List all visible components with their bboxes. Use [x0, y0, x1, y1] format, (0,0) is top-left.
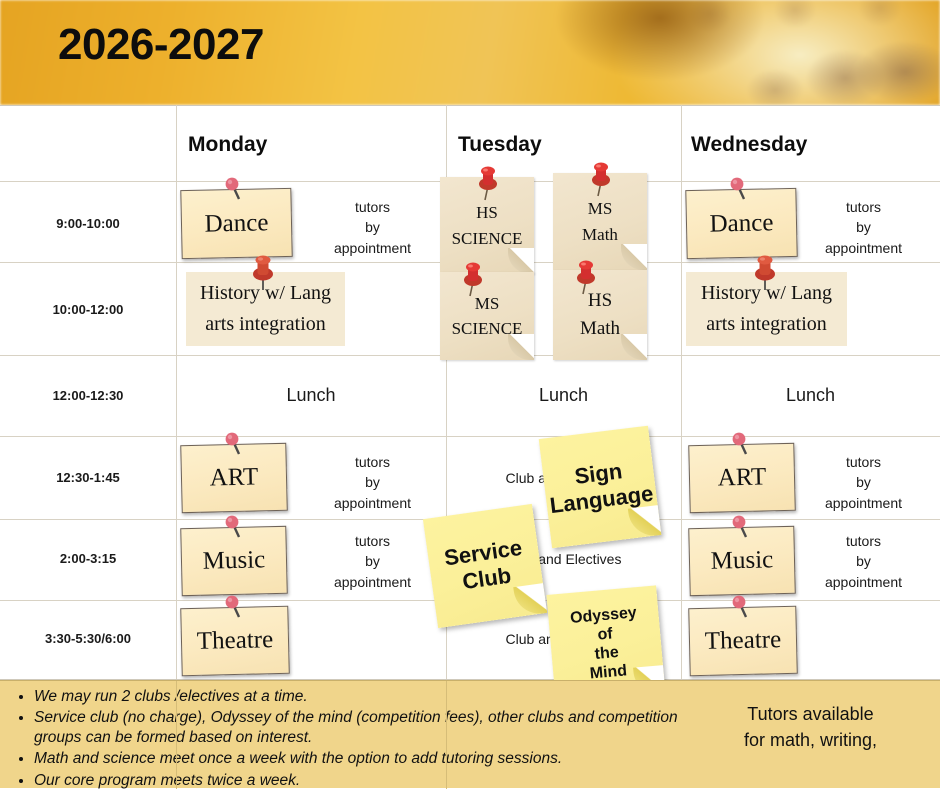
pushpin-pink-icon: [222, 595, 244, 619]
pushpin-pink-icon: [727, 177, 749, 201]
page-header: 2026-2027: [0, 0, 940, 105]
pushpin-pink-icon: [729, 432, 751, 456]
note-sign-language[interactable]: SignLanguage: [539, 426, 662, 549]
tutors-line-1: tutors: [806, 531, 921, 551]
note-label: Dance: [204, 209, 268, 238]
footer-divider-2: [446, 681, 447, 789]
tutors-line-1: tutors: [806, 197, 921, 217]
pushpin-pink-icon: [729, 515, 751, 539]
tutors-by-appointment-mon-1: tutors by appointment: [315, 452, 430, 513]
tutors-line-1: tutors: [806, 452, 921, 472]
page-curl: [621, 334, 647, 360]
time-label-3: 12:30-1:45: [0, 470, 176, 485]
pushpin-red-icon: [750, 252, 780, 292]
pushpin-red-icon: [571, 256, 601, 296]
note-service-club[interactable]: ServiceClub: [423, 504, 547, 628]
day-header-monday: Monday: [188, 133, 267, 157]
tutors-line-2: by: [315, 217, 430, 237]
pushpin-pink-icon: [729, 595, 751, 619]
tutors-line-3: appointment: [806, 572, 921, 592]
page-curl: [508, 334, 534, 360]
footer-notes-panel: We may run 2 clubs /electives at a time.…: [0, 680, 681, 788]
time-label-0: 9:00-10:00: [0, 216, 176, 231]
tutors-by-appointment-wed-2: tutors by appointment: [806, 531, 921, 592]
page-curl: [508, 248, 534, 274]
tutors-available-text: Tutors available for math, writing,: [681, 701, 940, 753]
day-header-wednesday: Wednesday: [691, 133, 807, 157]
grid-top-border: [0, 105, 940, 106]
lunch-tuesday: Lunch: [446, 385, 681, 406]
time-label-2: 12:00-12:30: [0, 388, 176, 403]
page-curl: [621, 244, 647, 270]
footer-divider-1: [176, 681, 177, 789]
time-label-5: 3:30-5:30/6:00: [0, 631, 176, 646]
note-label: Theatre: [705, 626, 782, 656]
page-curl: [513, 583, 547, 617]
note-label: HSSCIENCE: [452, 200, 523, 251]
tutors-line-2: by: [806, 551, 921, 571]
pushpin-red-icon: [458, 258, 488, 298]
tutors-line-1: tutors: [315, 531, 430, 551]
footer-bullet-1: Service club (no charge), Odyssey of the…: [34, 708, 681, 748]
page-title: 2026-2027: [58, 20, 264, 70]
footer-bullet-list: We may run 2 clubs /electives at a time.…: [34, 687, 681, 791]
note-label: ART: [717, 463, 766, 492]
tutors-line-3: appointment: [315, 572, 430, 592]
lunch-wednesday: Lunch: [681, 385, 940, 406]
tutors-available-line-2: for math, writing,: [681, 727, 940, 753]
time-label-1: 10:00-12:00: [0, 302, 176, 317]
pushpin-pink-icon: [222, 177, 244, 201]
tutors-line-2: by: [806, 472, 921, 492]
note-label: ART: [209, 463, 258, 492]
pushpin-pink-icon: [222, 515, 244, 539]
tutors-line-2: by: [806, 217, 921, 237]
tutors-available-line-1: Tutors available: [681, 701, 940, 727]
note-label: MSMath: [582, 196, 618, 247]
tutors-line-3: appointment: [806, 238, 921, 258]
note-label: Music: [710, 546, 773, 575]
tutors-line-2: by: [315, 472, 430, 492]
tutors-line-2: by: [315, 551, 430, 571]
tutors-line-1: tutors: [315, 452, 430, 472]
page-curl: [628, 505, 661, 538]
time-label-4: 2:00-3:15: [0, 551, 176, 566]
footer-bullet-0: We may run 2 clubs /electives at a time.: [34, 687, 681, 707]
pushpin-red-icon: [586, 158, 616, 198]
note-label: Theatre: [197, 626, 274, 656]
pushpin-red-icon: [473, 162, 503, 202]
grid-hline-3: [0, 436, 940, 437]
tutors-by-appointment-wed-1: tutors by appointment: [806, 452, 921, 513]
footer-bullet-2: Math and science meet once a week with t…: [34, 749, 681, 769]
note-label: Music: [202, 546, 265, 575]
note-label: Dance: [709, 209, 773, 238]
tutors-by-appointment-mon-2: tutors by appointment: [315, 531, 430, 592]
tutors-by-appointment-wed-0: tutors by appointment: [806, 197, 921, 258]
tutors-line-3: appointment: [806, 493, 921, 513]
pushpin-red-icon: [248, 252, 278, 292]
day-header-tuesday: Tuesday: [458, 133, 542, 157]
lunch-monday: Lunch: [176, 385, 446, 406]
tutors-line-3: appointment: [315, 238, 430, 258]
tutors-by-appointment-mon-0: tutors by appointment: [315, 197, 430, 258]
pushpin-pink-icon: [222, 432, 244, 456]
note-label: OdysseyoftheMind: [569, 604, 642, 685]
tutors-line-3: appointment: [315, 493, 430, 513]
page-footer: We may run 2 clubs /electives at a time.…: [0, 680, 940, 788]
footer-tutors-panel: Tutors available for math, writing,: [681, 680, 940, 788]
tutors-line-1: tutors: [315, 197, 430, 217]
